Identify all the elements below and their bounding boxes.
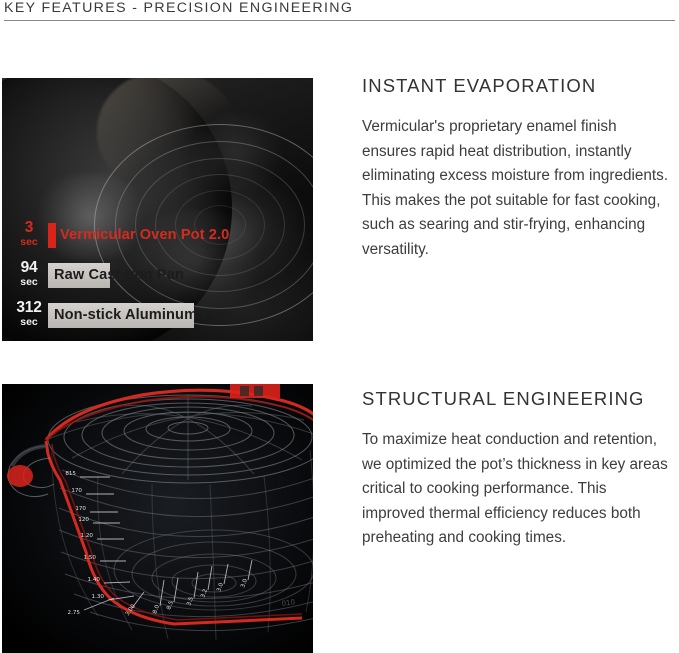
feature-image-steaming-pot: 3 sec Vermicular Oven Pot 2.0 94 sec Raw…: [2, 78, 313, 341]
svg-text:1.30: 1.30: [92, 594, 105, 600]
feature-text-evaporation: INSTANT EVAPORATION Vermicular's proprie…: [362, 75, 672, 263]
svg-text:1.50: 1.50: [84, 555, 97, 561]
feature-body-evaporation: Vermicular's proprietary enamel finish e…: [362, 115, 672, 263]
chart-row-vermicular: 3 sec Vermicular Oven Pot 2.0: [12, 220, 312, 255]
svg-text:815: 815: [65, 471, 76, 477]
chart-label-cast-iron: Raw Cast Iron Pan: [54, 265, 184, 286]
feature-body-structure: To maximize heat conduction and retentio…: [362, 428, 672, 551]
cad-wireframe-render: 815 170 170 120 1.20 1.50 1.40 1.30 2.75…: [2, 384, 313, 653]
chart-value-vermicular: 3 sec: [12, 220, 46, 247]
chart-label-aluminum: Non-stick Aluminum Pan: [54, 305, 228, 326]
feature-image-cad-wireframe: 815 170 170 120 1.20 1.50 1.40 1.30 2.75…: [2, 384, 313, 653]
chart-row-aluminum: 312 sec Non-stick Aluminum Pan: [12, 300, 312, 335]
page-header: KEY FEATURES - PRECISION ENGINEERING: [0, 0, 679, 22]
svg-text:1.20: 1.20: [81, 533, 94, 539]
svg-text:1.40: 1.40: [88, 577, 101, 583]
svg-text:170: 170: [71, 488, 82, 494]
steam-puff-icon: [182, 114, 292, 192]
steaming-pot-photo: 3 sec Vermicular Oven Pot 2.0 94 sec Raw…: [2, 78, 313, 341]
evaporation-speed-chart: 3 sec Vermicular Oven Pot 2.0 94 sec Raw…: [12, 220, 312, 340]
header-divider: [4, 20, 675, 21]
chart-value-aluminum: 312 sec: [12, 300, 46, 327]
feature-heading-structure: STRUCTURAL ENGINEERING: [362, 388, 672, 410]
svg-text:170: 170: [75, 506, 86, 512]
lid-knob-highlight: [230, 384, 280, 398]
svg-text:2.75: 2.75: [68, 610, 81, 616]
page-title: KEY FEATURES - PRECISION ENGINEERING: [4, 0, 353, 16]
feature-text-structure: STRUCTURAL ENGINEERING To maximize heat …: [362, 388, 672, 551]
wireframe-diagram-icon: 815 170 170 120 1.20 1.50 1.40 1.30 2.75…: [2, 384, 313, 653]
chart-value-cast-iron: 94 sec: [12, 260, 46, 287]
feature-heading-evaporation: INSTANT EVAPORATION: [362, 75, 672, 97]
svg-text:120: 120: [78, 517, 89, 523]
chart-label-vermicular: Vermicular Oven Pot 2.0: [60, 225, 229, 246]
chart-row-cast-iron: 94 sec Raw Cast Iron Pan: [12, 260, 312, 295]
chart-bar-vermicular: [48, 223, 56, 248]
